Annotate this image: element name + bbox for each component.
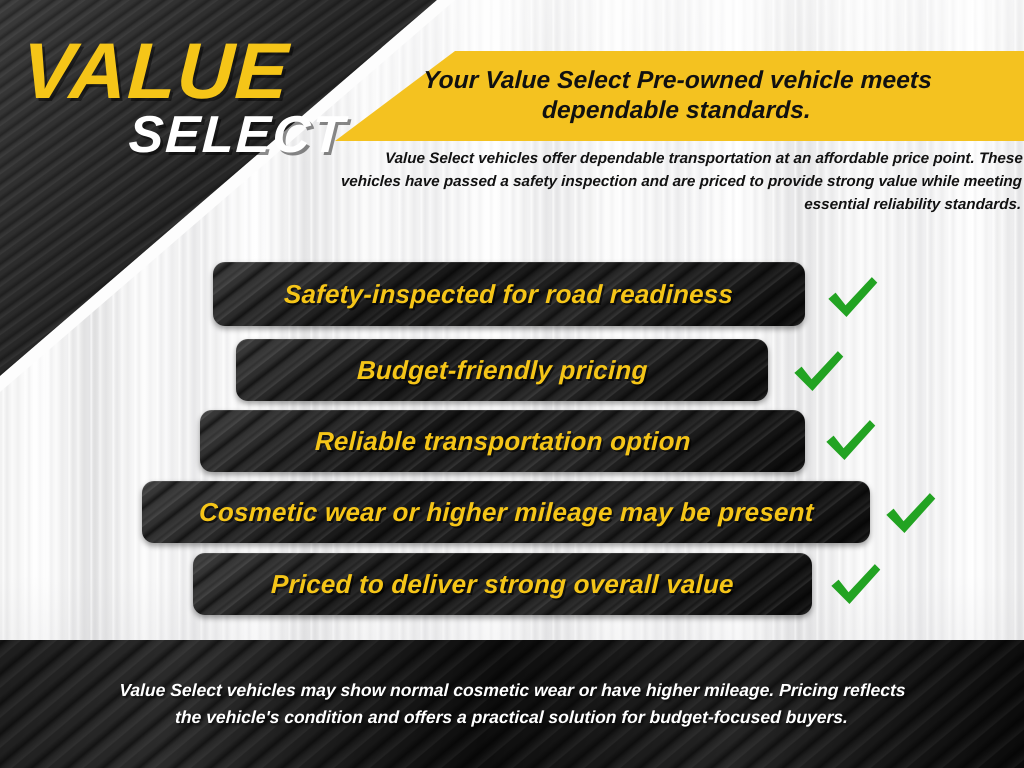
- feature-bar-5: Priced to deliver strong overall value: [193, 553, 812, 615]
- feature-label-2: Budget-friendly pricing: [356, 355, 648, 386]
- feature-bar-2: Budget-friendly pricing: [236, 339, 768, 401]
- feature-bar-1: Safety-inspected for road readiness: [213, 262, 805, 326]
- brand-name-select: SELECT: [21, 109, 354, 161]
- feature-label-1: Safety-inspected for road readiness: [284, 279, 734, 310]
- brand-name-value: VALUE: [20, 34, 354, 107]
- feature-bar-3: Reliable transportation option: [200, 410, 805, 472]
- check-icon-3: [820, 412, 878, 470]
- check-icon-5: [825, 556, 883, 614]
- footer-disclaimer: Value Select vehicles may show normal co…: [111, 677, 913, 731]
- brand-logo: VALUE SELECT: [22, 34, 352, 161]
- footer-bar: Value Select vehicles may show normal co…: [0, 640, 1024, 768]
- check-icon-2: [788, 343, 846, 401]
- intro-paragraph: Value Select vehicles offer dependable t…: [321, 147, 1023, 216]
- check-icon-4: [880, 485, 938, 543]
- value-select-poster: VALUE SELECT Your Value Select Pre-owned…: [0, 0, 1024, 768]
- feature-label-4: Cosmetic wear or higher mileage may be p…: [198, 497, 814, 528]
- feature-label-3: Reliable transportation option: [314, 426, 691, 457]
- feature-label-5: Priced to deliver strong overall value: [271, 569, 735, 600]
- check-icon-1: [822, 269, 880, 327]
- feature-bar-4: Cosmetic wear or higher mileage may be p…: [142, 481, 870, 543]
